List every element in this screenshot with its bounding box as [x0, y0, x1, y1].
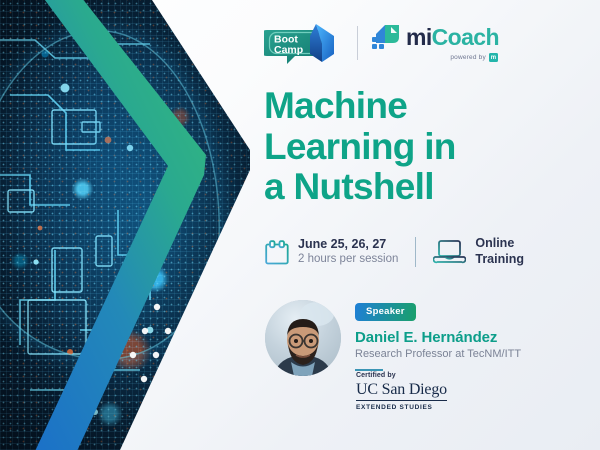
- event-duration: 2 hours per session: [298, 252, 398, 267]
- speaker-photo: [265, 300, 341, 376]
- content-column: Boot Camp: [264, 0, 600, 450]
- artwork-vignette: [0, 0, 250, 450]
- micoach-wordmark: miCoach: [406, 26, 499, 49]
- ucsd-program-label: EXTENDED STUDIES: [356, 404, 447, 411]
- format-info: Online Training: [433, 236, 524, 267]
- divider-rule: [355, 369, 383, 371]
- svg-text:Camp: Camp: [274, 44, 303, 56]
- page-title: Machine Learning in a Nutshell: [264, 86, 594, 208]
- speaker-details: Speaker Daniel E. Hernández Research Pro…: [355, 300, 521, 371]
- event-format: Online Training: [475, 236, 524, 267]
- speaker-role: Research Professor at TecNM/ITT: [355, 348, 521, 360]
- logo-row: Boot Camp: [264, 18, 499, 68]
- avatar: [265, 300, 341, 376]
- ai-circuit-artwork: [0, 0, 250, 450]
- certified-by-label: Certified by: [356, 372, 447, 379]
- promo-poster: Boot Camp: [0, 0, 600, 450]
- powered-by-text: powered by: [450, 54, 486, 61]
- event-info-row: June 25, 26, 27 2 hours per session: [265, 231, 524, 273]
- speaker-section: Speaker Daniel E. Hernández Research Pro…: [265, 300, 521, 376]
- powered-by-row: powered by m: [450, 53, 498, 62]
- event-date: June 25, 26, 27: [298, 237, 398, 253]
- status-badge: Speaker: [355, 303, 416, 321]
- date-info: June 25, 26, 27 2 hours per session: [265, 237, 398, 268]
- micoach-house-icon: [371, 24, 401, 50]
- calendar-icon: [265, 240, 289, 265]
- ucsd-wordmark: UC San Diego: [356, 382, 447, 401]
- info-divider: [415, 237, 416, 267]
- laptop-icon: [433, 239, 466, 265]
- speaker-name: Daniel E. Hernández: [355, 329, 521, 346]
- bootcamp-logo: Boot Camp: [264, 20, 344, 66]
- certification-block: Certified by UC San Diego EXTENDED STUDI…: [356, 372, 447, 411]
- powered-by-mark-icon: m: [489, 53, 498, 62]
- micoach-logo: miCoach powered by m: [371, 24, 499, 62]
- logo-divider: [357, 26, 358, 60]
